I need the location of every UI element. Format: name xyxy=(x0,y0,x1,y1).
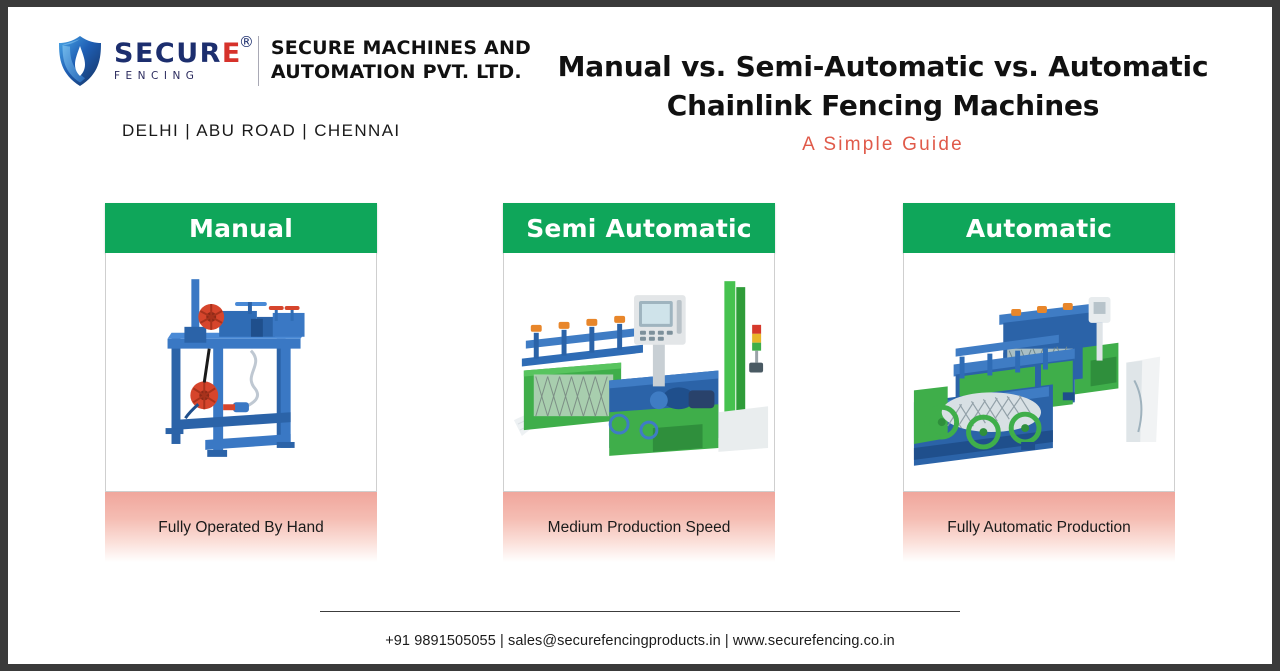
wordmark-sub: FENCING xyxy=(114,70,242,82)
card-automatic-heading: Automatic xyxy=(903,203,1175,253)
card-automatic: Automatic xyxy=(903,203,1175,562)
card-semi-automatic-caption: Medium Production Speed xyxy=(503,492,775,562)
brand-row: SECURE ® FENCING SECURE MACHINES AND AUT… xyxy=(52,33,531,89)
shield-icon xyxy=(52,33,108,89)
page-title: Manual vs. Semi-Automatic vs. Automatic … xyxy=(478,47,1272,125)
card-automatic-caption: Fully Automatic Production xyxy=(903,492,1175,562)
branch-cities: DELHI | ABU ROAD | CHENNAI xyxy=(122,121,401,141)
comparison-cards: Manual xyxy=(8,203,1272,573)
wordmark-main: SECURE xyxy=(114,40,242,67)
manual-chainlink-machine-photo xyxy=(105,253,377,492)
semi-automatic-chainlink-machine-photo xyxy=(503,253,775,492)
title-block: Manual vs. Semi-Automatic vs. Automatic … xyxy=(478,47,1272,156)
page-title-line2: Chainlink Fencing Machines xyxy=(478,86,1272,125)
slide-canvas: SECURE ® FENCING SECURE MACHINES AND AUT… xyxy=(8,7,1272,664)
page-title-line1: Manual vs. Semi-Automatic vs. Automatic xyxy=(478,47,1272,86)
logo-divider xyxy=(258,36,259,86)
card-semi-automatic: Semi Automatic xyxy=(503,203,775,562)
brand-logo-block: SECURE ® FENCING SECURE MACHINES AND AUT… xyxy=(52,33,472,123)
footer-divider xyxy=(320,611,960,612)
card-manual-caption: Fully Operated By Hand xyxy=(105,492,377,562)
automatic-chainlink-machine-photo xyxy=(903,253,1175,492)
card-manual: Manual xyxy=(105,203,377,562)
card-semi-automatic-heading: Semi Automatic xyxy=(503,203,775,253)
page-subtitle: A Simple Guide xyxy=(478,134,1272,156)
footer-contact: +91 9891505055 | sales@securefencingprod… xyxy=(8,633,1272,649)
wordmark: SECURE ® FENCING xyxy=(114,40,256,82)
card-manual-heading: Manual xyxy=(105,203,377,253)
registered-trademark-icon: ® xyxy=(239,33,254,51)
